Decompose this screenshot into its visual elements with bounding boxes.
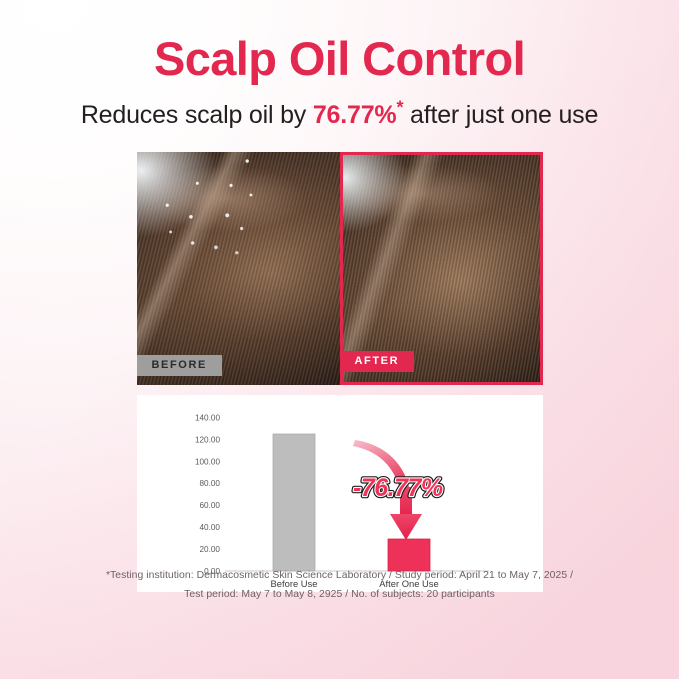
bar-before-use: [273, 434, 315, 571]
before-photo-panel: BEFORE: [137, 152, 340, 385]
subtitle-highlight-value: 76.77%: [313, 101, 397, 129]
y-tick-80: 80.00: [199, 479, 220, 488]
poster-root: Scalp Oil Control Reduces scalp oil by 7…: [0, 0, 679, 679]
subtitle-text-lead: Reduces scalp oil by: [81, 101, 313, 129]
footnote-line-1: *Testing institution: Dermacosmetic Skin…: [0, 566, 679, 585]
y-axis-ticks: 140.00 120.00 100.00 80.00 60.00 40.00 2…: [194, 413, 219, 575]
y-tick-120: 120.00: [194, 435, 219, 444]
bar-chart-svg: 140.00 120.00 100.00 80.00 60.00 40.00 2…: [137, 395, 543, 592]
y-tick-40: 40.00: [199, 523, 220, 532]
delta-label: -76.77%: [353, 474, 443, 502]
results-bar-chart: 140.00 120.00 100.00 80.00 60.00 40.00 2…: [137, 395, 543, 592]
page-title: Scalp Oil Control: [0, 0, 679, 84]
before-after-comparison: BEFORE AFTER: [137, 152, 543, 385]
subtitle-text-trail: after just one use: [403, 101, 598, 129]
footnote-line-2: Test period: May 7 to May 8, 2925 / No. …: [0, 585, 679, 604]
y-tick-20: 20.00: [199, 545, 220, 554]
page-subtitle: Reduces scalp oil by 76.77%* after just …: [0, 84, 679, 130]
before-label-badge: BEFORE: [137, 355, 222, 376]
y-tick-140: 140.00: [194, 413, 219, 422]
after-label-badge: AFTER: [340, 351, 415, 372]
y-tick-100: 100.00: [194, 457, 219, 466]
footnote: *Testing institution: Dermacosmetic Skin…: [0, 566, 679, 605]
after-photo-panel: AFTER: [340, 152, 543, 385]
after-hair-photo: [343, 155, 540, 382]
y-tick-60: 60.00: [199, 501, 220, 510]
